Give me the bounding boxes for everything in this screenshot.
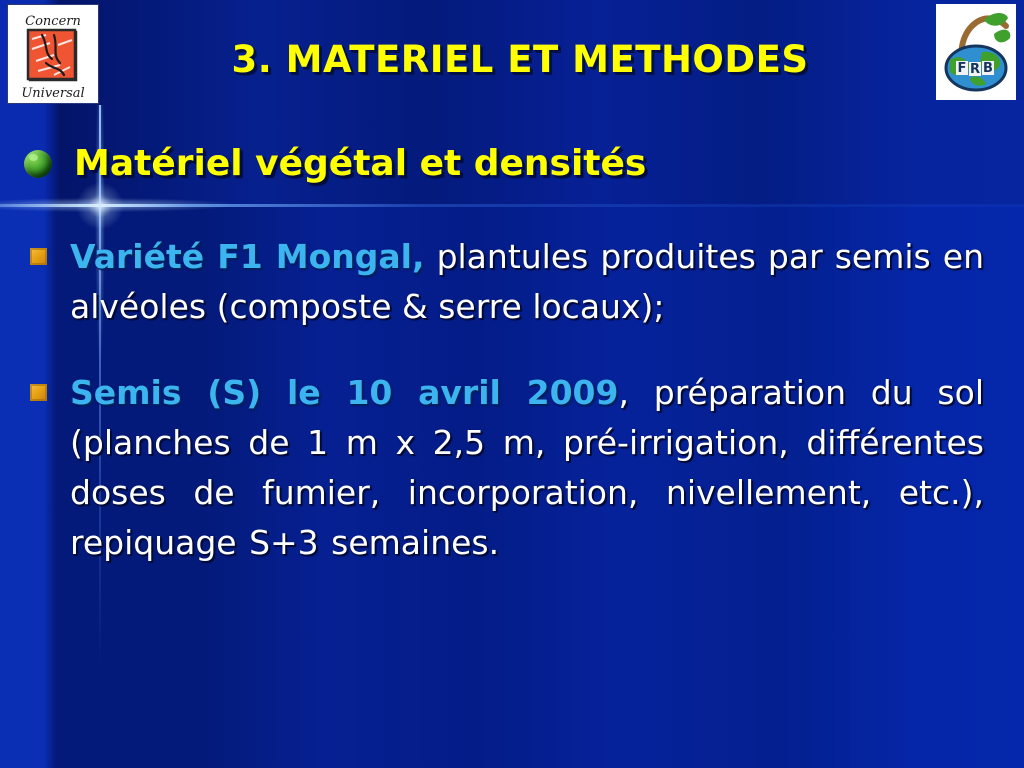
crosshair-star-highlight: [76, 182, 124, 230]
frb-letter-b: B: [983, 61, 993, 76]
logo-left-top-text: Concern: [25, 14, 81, 29]
presentation-slide: Concern Universal: [0, 0, 1024, 768]
content-body: Variété F1 Mongal, plantules produites p…: [0, 232, 1024, 652]
gold-square-bullet-icon: [30, 248, 47, 265]
gold-square-bullet-icon: [30, 384, 47, 401]
list-item: Semis (S) le 10 avril 2009, préparation …: [0, 368, 1024, 568]
frb-globe-sprout-logo: F R B: [936, 4, 1016, 100]
bullet-text-1: Variété F1 Mongal, plantules produites p…: [70, 232, 984, 332]
concern-universal-logo: Concern Universal: [7, 4, 99, 104]
green-sphere-bullet-icon: [24, 150, 52, 178]
frb-letter-f: F: [958, 61, 967, 76]
bullet-highlight-2: Semis (S) le 10 avril 2009: [70, 373, 618, 412]
subtitle-text: Matériel végétal et densités: [74, 143, 646, 184]
bullet-highlight-1: Variété F1 Mongal,: [70, 237, 425, 276]
subtitle-row: Matériel végétal et densités: [24, 143, 984, 184]
horizontal-divider-line: [0, 204, 1024, 207]
bullet-text-2: Semis (S) le 10 avril 2009, préparation …: [70, 368, 984, 568]
frb-letter-r: R: [970, 62, 980, 77]
list-item: Variété F1 Mongal, plantules produites p…: [0, 232, 1024, 332]
page-title: 3. MATERIEL ET METHODES: [110, 38, 930, 81]
logo-left-bottom-text: Universal: [21, 86, 84, 101]
